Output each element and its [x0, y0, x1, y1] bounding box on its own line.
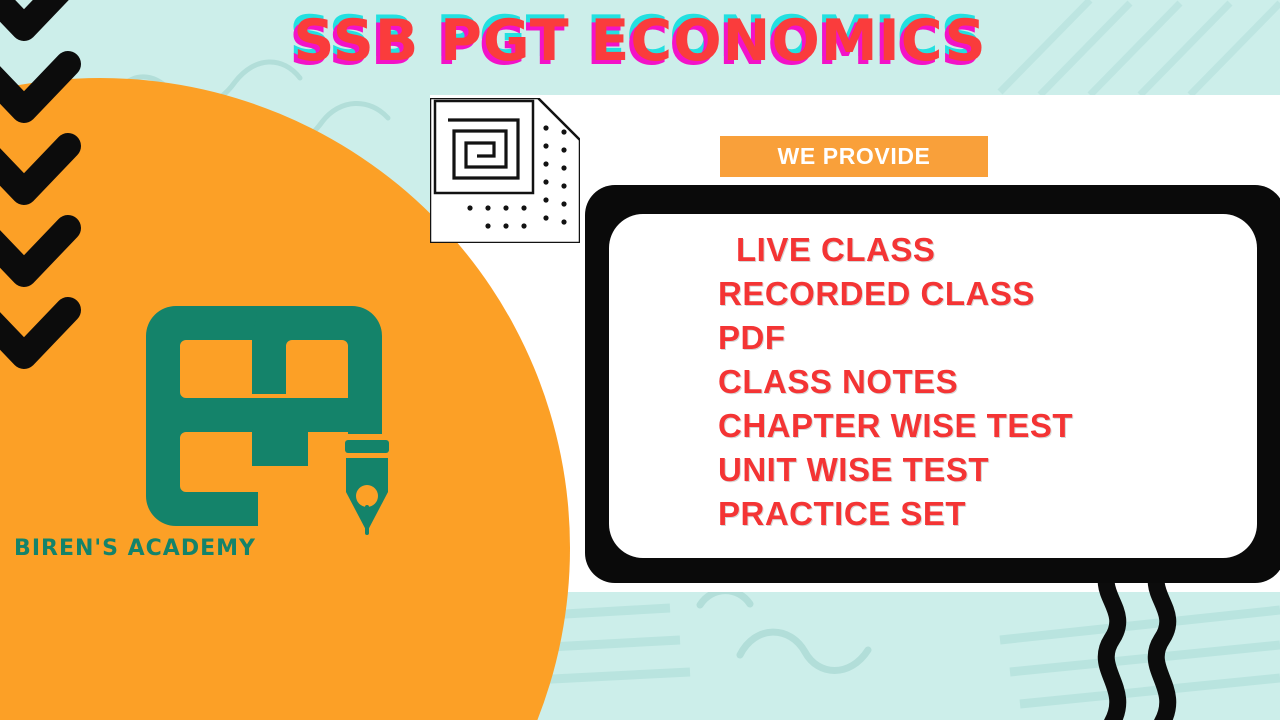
- we-provide-badge: WE PROVIDE: [720, 136, 988, 177]
- wave-line-3: [740, 632, 868, 670]
- logo-monogram-icon: [140, 300, 410, 535]
- wave-line-4: [700, 591, 750, 605]
- squiggle-decor-icon: [1090, 565, 1210, 720]
- brand-logo: [140, 300, 410, 575]
- brand-name-text: BIREN'S ACADEMY: [0, 536, 270, 561]
- service-item: PDF: [718, 316, 1248, 360]
- service-item: CHAPTER WISE TEST: [718, 404, 1248, 448]
- service-item: LIVE CLASS: [718, 228, 1248, 272]
- service-item: CLASS NOTES: [718, 360, 1248, 404]
- pen-nib-icon: [345, 440, 389, 535]
- service-item: UNIT WISE TEST: [718, 448, 1248, 492]
- poster-canvas: SSB PGT ECONOMICS SSB PGT ECONOMICS SSB …: [0, 0, 1280, 720]
- services-list: LIVE CLASS RECORDED CLASS PDF CLASS NOTE…: [718, 228, 1248, 536]
- page-title: SSB PGT ECONOMICS SSB PGT ECONOMICS SSB …: [293, 8, 986, 74]
- spiral-maze-icon: [430, 98, 580, 243]
- service-item: RECORDED CLASS: [718, 272, 1248, 316]
- service-item: PRACTICE SET: [718, 492, 1248, 536]
- title-text: SSB PGT ECONOMICS: [293, 8, 986, 74]
- we-provide-label: WE PROVIDE: [778, 143, 931, 170]
- poster-title-wrap: SSB PGT ECONOMICS SSB PGT ECONOMICS SSB …: [0, 8, 1280, 78]
- chevron-down-icon: [0, 282, 82, 398]
